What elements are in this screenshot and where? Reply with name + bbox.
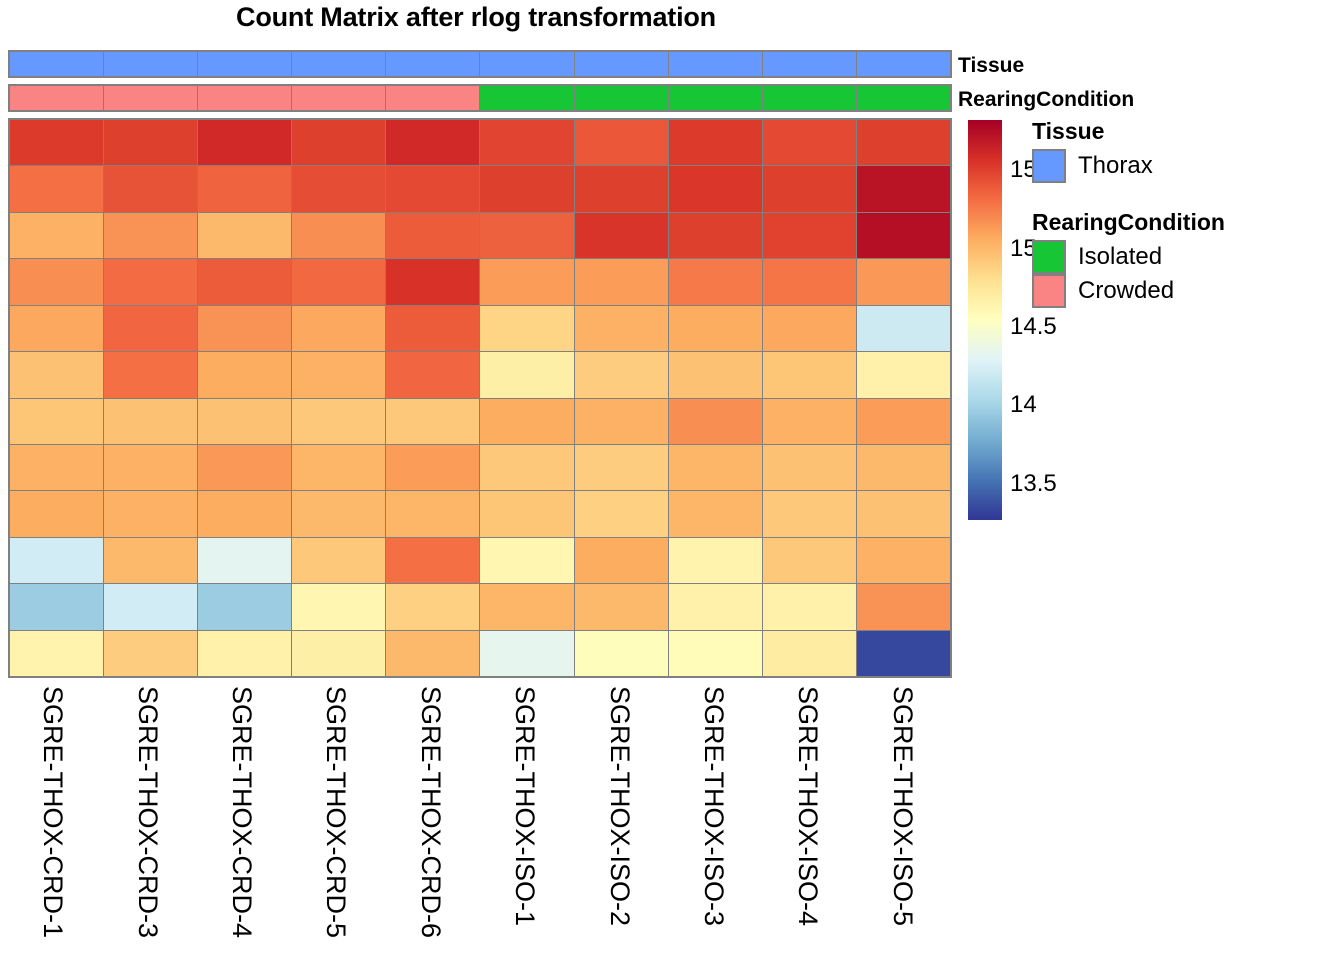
heatmap-cell — [669, 584, 763, 629]
heatmap-cell — [10, 631, 104, 676]
heatmap-cell — [763, 399, 857, 444]
tissue-annotation-cell — [575, 52, 669, 76]
rearing-annotation-cell — [763, 86, 857, 110]
tissue-annotation-bar-label: Tissue — [958, 55, 1024, 76]
heatmap-cell — [763, 445, 857, 490]
legend-tissue-title: Tissue — [1032, 118, 1342, 145]
heatmap-cell — [857, 491, 950, 536]
heatmap-cell — [669, 445, 763, 490]
legend-rearing-label: Crowded — [1078, 277, 1174, 305]
heatmap-cell — [480, 306, 574, 351]
heatmap-cell — [10, 538, 104, 583]
heatmap-cell — [763, 213, 857, 258]
tissue-annotation-cell — [669, 52, 763, 76]
column-label: SGRE-THOX-ISO-2 — [604, 686, 635, 926]
tissue-annotation-cell — [386, 52, 480, 76]
column-label: SGRE-THOX-ISO-4 — [792, 686, 823, 926]
legend-tissue-label: Thorax — [1078, 152, 1153, 180]
column-label: SGRE-THOX-CRD-4 — [226, 686, 257, 938]
heatmap-cell — [857, 538, 950, 583]
rearing-annotation-bar-label: RearingCondition — [958, 89, 1134, 110]
heatmap-cell — [386, 445, 480, 490]
heatmap-cell — [575, 259, 669, 304]
heatmap-cell — [198, 259, 292, 304]
heatmap-cell — [480, 584, 574, 629]
heatmap-cell — [763, 120, 857, 165]
heatmap-row — [10, 166, 950, 212]
heatmap-cell — [386, 584, 480, 629]
heatmap-row — [10, 491, 950, 537]
heatmap-cell — [386, 399, 480, 444]
heatmap-cell — [575, 213, 669, 258]
column-label-slot: SGRE-THOX-CRD-5 — [291, 682, 385, 960]
heatmap-cell — [575, 399, 669, 444]
heatmap-cell — [480, 399, 574, 444]
heatmap-cell — [386, 538, 480, 583]
heatmap-cell — [292, 352, 386, 397]
heatmap-cell — [763, 166, 857, 211]
heatmap-cell — [386, 352, 480, 397]
column-label: SGRE-THOX-CRD-3 — [132, 686, 163, 938]
tissue-annotation-bar — [8, 50, 952, 78]
heatmap-cell — [480, 631, 574, 676]
heatmap-cell — [10, 259, 104, 304]
heatmap-cell — [10, 166, 104, 211]
heatmap-cell — [198, 352, 292, 397]
heatmap-cell — [669, 213, 763, 258]
legend-tissue: Tissue Thorax — [1032, 118, 1342, 183]
heatmap-cell — [763, 306, 857, 351]
heatmap-cell — [857, 166, 950, 211]
heatmap-cell — [10, 399, 104, 444]
heatmap-cell — [10, 584, 104, 629]
heatmap-cell — [198, 306, 292, 351]
heatmap-cell — [575, 584, 669, 629]
heatmap-cell — [575, 306, 669, 351]
rearing-annotation-cell — [480, 86, 574, 110]
rearing-annotation-cell — [198, 86, 292, 110]
heatmap-cell — [10, 352, 104, 397]
heatmap-cell — [480, 352, 574, 397]
heatmap-cell — [292, 166, 386, 211]
legend-rearing-label: Isolated — [1078, 243, 1162, 271]
heatmap-cell — [104, 491, 198, 536]
rearing-annotation-cell — [857, 86, 950, 110]
column-label-slot: SGRE-THOX-ISO-5 — [858, 682, 952, 960]
column-label: SGRE-THOX-CRD-6 — [415, 686, 446, 938]
heatmap-cell — [763, 491, 857, 536]
heatmap-cell — [104, 584, 198, 629]
column-label: SGRE-THOX-ISO-1 — [509, 686, 540, 926]
heatmap-cell — [292, 213, 386, 258]
heatmap-cell — [104, 445, 198, 490]
heatmap-cell — [386, 631, 480, 676]
heatmap-cell — [669, 399, 763, 444]
heatmap-row — [10, 352, 950, 398]
rearing-annotation-bar — [8, 84, 952, 112]
column-label: SGRE-THOX-ISO-3 — [698, 686, 729, 926]
heatmap-cell — [480, 445, 574, 490]
tissue-annotation-cell — [10, 52, 104, 76]
rearing-annotation-cell — [292, 86, 386, 110]
heatmap-cell — [386, 259, 480, 304]
heatmap-cell — [857, 352, 950, 397]
heatmap-cell — [292, 584, 386, 629]
heatmap-cell — [292, 306, 386, 351]
rearing-annotation-cell — [669, 86, 763, 110]
rearing-annotation-cell — [10, 86, 104, 110]
heatmap-row — [10, 631, 950, 676]
heatmap-cell — [763, 259, 857, 304]
legend-rearing-item[interactable]: Crowded — [1032, 274, 1342, 308]
heatmap-cell — [104, 631, 198, 676]
heatmap-cell — [104, 306, 198, 351]
heatmap-cell — [857, 213, 950, 258]
heatmap-cell — [480, 120, 574, 165]
tissue-annotation-cell — [198, 52, 292, 76]
heatmap-cell — [292, 631, 386, 676]
heatmap-cell — [669, 491, 763, 536]
tissue-annotation-cell — [480, 52, 574, 76]
heatmap-cell — [104, 166, 198, 211]
column-label-slot: SGRE-THOX-ISO-4 — [763, 682, 857, 960]
column-label: SGRE-THOX-CRD-5 — [320, 686, 351, 938]
tissue-annotation-cell — [292, 52, 386, 76]
tissue-annotation-cell — [857, 52, 950, 76]
legend-tissue-swatch — [1032, 149, 1066, 183]
tissue-annotation-cell — [763, 52, 857, 76]
heatmap-cell — [198, 584, 292, 629]
column-label: SGRE-THOX-CRD-1 — [37, 686, 68, 938]
column-label-slot: SGRE-THOX-CRD-4 — [197, 682, 291, 960]
heatmap-cell — [857, 445, 950, 490]
heatmap-cell — [10, 491, 104, 536]
heatmap-cell — [669, 120, 763, 165]
rearing-annotation-cell — [386, 86, 480, 110]
heatmap-cell — [198, 120, 292, 165]
heatmap-cell — [292, 120, 386, 165]
heatmap-cell — [386, 166, 480, 211]
legend-rearing-swatch — [1032, 240, 1066, 274]
column-label-slot: SGRE-THOX-ISO-2 — [574, 682, 668, 960]
heatmap-cell — [10, 120, 104, 165]
tissue-annotation-cell — [104, 52, 198, 76]
heatmap-row — [10, 306, 950, 352]
heatmap-cell — [104, 259, 198, 304]
legend-rearing-title: RearingCondition — [1032, 209, 1342, 236]
heatmap-cell — [10, 445, 104, 490]
heatmap-cell — [10, 306, 104, 351]
heatmap-cell — [857, 631, 950, 676]
heatmap-cell — [104, 538, 198, 583]
heatmap-cell — [386, 306, 480, 351]
legend-rearing-condition: RearingCondition IsolatedCrowded — [1032, 209, 1342, 308]
heatmap-cell — [669, 352, 763, 397]
heatmap-cell — [292, 538, 386, 583]
column-label-slot: SGRE-THOX-CRD-6 — [386, 682, 480, 960]
heatmap-cell — [669, 166, 763, 211]
heatmap-cell — [763, 538, 857, 583]
heatmap-cell — [480, 538, 574, 583]
heatmap-row — [10, 399, 950, 445]
heatmap-cell — [292, 399, 386, 444]
heatmap-cell — [480, 259, 574, 304]
heatmap-cell — [857, 120, 950, 165]
heatmap-cell — [386, 213, 480, 258]
heatmap-row — [10, 538, 950, 584]
heatmap-cell — [669, 538, 763, 583]
column-label-slot: SGRE-THOX-ISO-1 — [480, 682, 574, 960]
heatmap-row — [10, 259, 950, 305]
heatmap-cell — [386, 120, 480, 165]
heatmap-cell — [480, 491, 574, 536]
heatmap-cell — [857, 259, 950, 304]
legend-rearing-swatch — [1032, 274, 1066, 308]
colorbar-tick-label: 13.5 — [1010, 470, 1057, 498]
heatmap-cell — [10, 213, 104, 258]
heatmap-cell — [763, 352, 857, 397]
heatmap-cell — [198, 399, 292, 444]
heatmap-cell — [669, 631, 763, 676]
heatmap-cell — [480, 213, 574, 258]
heatmap-cell — [198, 631, 292, 676]
heatmap-cell — [857, 399, 950, 444]
heatmap-cell — [104, 352, 198, 397]
heatmap-cell — [857, 306, 950, 351]
heatmap-cell — [669, 306, 763, 351]
heatmap-row — [10, 120, 950, 166]
legend-rearing-item[interactable]: Isolated — [1032, 240, 1342, 274]
heatmap-cell — [857, 584, 950, 629]
heatmap-cell — [763, 631, 857, 676]
heatmap-cell — [575, 445, 669, 490]
column-label-slot: SGRE-THOX-CRD-3 — [102, 682, 196, 960]
heatmap-cell — [292, 259, 386, 304]
heatmap-cell — [198, 445, 292, 490]
heatmap-grid — [8, 118, 952, 678]
colorbar-gradient — [968, 120, 1002, 520]
heatmap-cell — [575, 631, 669, 676]
heatmap-cell — [104, 120, 198, 165]
colorbar-tick-label: 14 — [1010, 391, 1037, 419]
legend-tissue-item[interactable]: Thorax — [1032, 149, 1342, 183]
heatmap-cell — [575, 352, 669, 397]
column-label-slot: SGRE-THOX-CRD-1 — [8, 682, 102, 960]
heatmap-cell — [198, 213, 292, 258]
heatmap-cell — [480, 166, 574, 211]
heatmap-cell — [763, 584, 857, 629]
heatmap-cell — [198, 166, 292, 211]
heatmap-cell — [104, 213, 198, 258]
column-label-slot: SGRE-THOX-ISO-3 — [669, 682, 763, 960]
heatmap-cell — [198, 538, 292, 583]
legend-panel: Tissue Thorax RearingCondition IsolatedC… — [1032, 118, 1342, 308]
heatmap-cell — [669, 259, 763, 304]
column-axis-labels: SGRE-THOX-CRD-1SGRE-THOX-CRD-3SGRE-THOX-… — [8, 682, 952, 960]
colorbar-tick-label: 14.5 — [1010, 313, 1057, 341]
heatmap-cell — [104, 399, 198, 444]
page-title: Count Matrix after rlog transformation — [0, 2, 952, 33]
heatmap-row — [10, 584, 950, 630]
heatmap-cell — [575, 120, 669, 165]
heatmap-cell — [292, 445, 386, 490]
heatmap-cell — [575, 166, 669, 211]
column-label: SGRE-THOX-ISO-5 — [887, 686, 918, 926]
rearing-annotation-cell — [575, 86, 669, 110]
heatmap-row — [10, 213, 950, 259]
heatmap-cell — [292, 491, 386, 536]
heatmap-cell — [198, 491, 292, 536]
rearing-annotation-cell — [104, 86, 198, 110]
heatmap-row — [10, 445, 950, 491]
heatmap-cell — [575, 491, 669, 536]
heatmap-cell — [575, 538, 669, 583]
heatmap-cell — [386, 491, 480, 536]
